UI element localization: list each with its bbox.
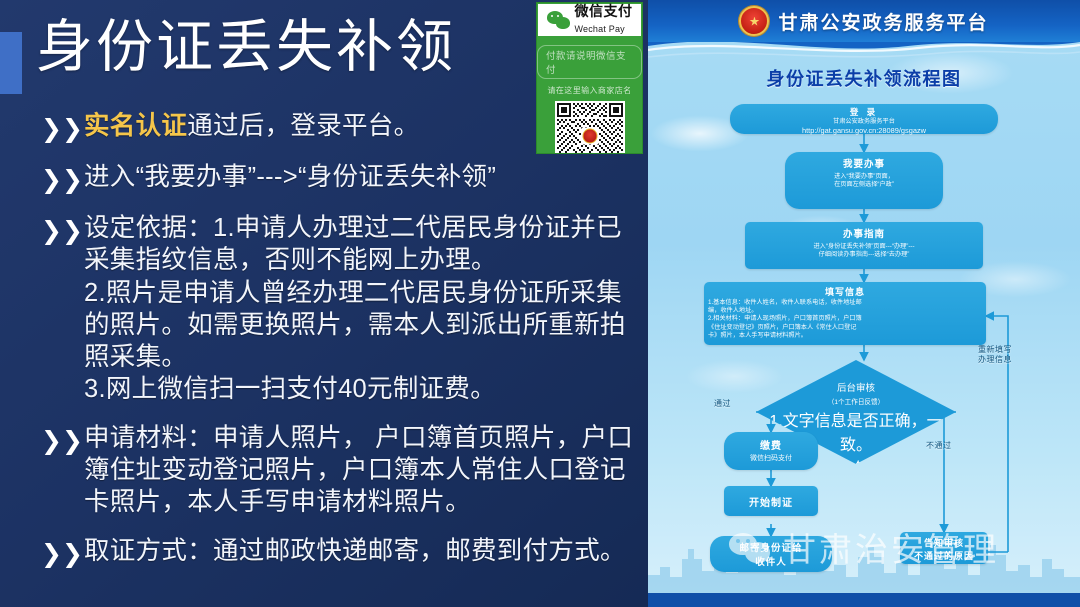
wechat-pay-en-label: Wechat Pay — [575, 24, 625, 34]
bullet-highlight-1: 实名认证 — [84, 112, 187, 140]
flow-node-fill-info[interactable]: 填写信息 1.基本信息：收件人姓名，收件人联系电话，收件地址邮 编，收件人地址。… — [704, 282, 986, 345]
bullet-item-4: ❯❯ 申请材料：申请人照片， 户口簿首页照片，户口簿住址变动登记照片，户口簿本人… — [40, 422, 640, 518]
wechat-pay-cn-label: 微信支付 — [575, 3, 633, 19]
wechat-pay-note-top: 付款请说明微信支付 — [537, 45, 642, 79]
flow-node-start-making[interactable]: 开始制证 — [724, 486, 818, 516]
bullet-text-4: 申请材料：申请人照片， 户口簿首页照片，户口簿住址变动登记照片，户口簿本人常住人… — [84, 422, 640, 518]
bullet-item-5: ❯❯ 取证方式：通过邮政快递邮寄，邮费到付方式。 — [40, 535, 640, 567]
chevron-double-right-icon: ❯❯ — [40, 110, 84, 141]
wechat-pay-qr-code[interactable] — [555, 101, 625, 154]
flow-node-my-affairs[interactable]: 我要办事 进入“我要办事”页面， 在页面左侧选择“户政” — [785, 152, 943, 209]
bullet-text-2: 进入“我要办事”--->“身份证丢失补领” — [84, 161, 640, 193]
bullet-rest-1: 通过后，登录平台。 — [187, 112, 419, 140]
bullet-item-3: ❯❯ 设定依据：1.申请人办理过二代居民身份证并已采集指纹信息，否则不能网上办理… — [40, 212, 640, 405]
edge-label-pass: 通过 — [714, 398, 731, 409]
wechat-icon — [547, 10, 571, 30]
flowchart-nodes: 登 录 甘肃公安政务服务平台 http://gat.gansu.gov.cn:2… — [648, 0, 1080, 607]
flow-node-payment[interactable]: 缴费 微信扫码支付 — [724, 432, 818, 470]
flow-node-mail-id[interactable]: 邮寄身份证给 收件人 — [710, 536, 832, 572]
flowchart-panel: 甘肃公安政务服务平台 身份证丢失补领流程图 — [648, 0, 1080, 607]
chevron-double-right-icon: ❯❯ — [40, 212, 84, 243]
edge-label-fail: 不通过 — [926, 440, 952, 451]
bullet-text-5: 取证方式：通过邮政快递邮寄，邮费到付方式。 — [84, 535, 640, 567]
flow-node-login[interactable]: 登 录 甘肃公安政务服务平台 http://gat.gansu.gov.cn:2… — [730, 104, 998, 134]
wechat-pay-card: 微信支付 Wechat Pay 付款请说明微信支付 请在这里输入商家店名 — [536, 2, 643, 154]
bullet-item-2: ❯❯ 进入“我要办事”--->“身份证丢失补领” — [40, 161, 640, 193]
flow-node-reject-notice[interactable]: 告知审核 不通过的原因 — [900, 532, 988, 564]
edge-label-refill: 重新填写 办理信息 — [978, 345, 1012, 365]
chevron-double-right-icon: ❯❯ — [40, 161, 84, 192]
chevron-double-right-icon: ❯❯ — [40, 535, 84, 566]
title-accent-bar — [0, 32, 22, 94]
bullet-text-3: 设定依据：1.申请人办理过二代居民身份证并已采集指纹信息，否则不能网上办理。 2… — [84, 212, 640, 405]
flow-node-guide[interactable]: 办事指南 进入“身份证丢失补领”页面---“办理”--- 仔细阅读办事指南---… — [745, 222, 983, 269]
qr-center-emblem — [581, 128, 598, 145]
footer-bar — [648, 593, 1080, 607]
presentation-slide: 身份证丢失补领 ❯❯ 实名认证通过后，登录平台。 ❯❯ 进入“我要办事”--->… — [0, 0, 1080, 607]
bullet-list: ❯❯ 实名认证通过后，登录平台。 ❯❯ 进入“我要办事”--->“身份证丢失补领… — [40, 110, 640, 584]
page-title: 身份证丢失补领 — [36, 17, 456, 79]
wechat-pay-header: 微信支付 Wechat Pay — [538, 4, 641, 36]
wechat-pay-note-sub: 请在这里输入商家店名 — [548, 85, 632, 96]
chevron-double-right-icon: ❯❯ — [40, 422, 84, 453]
